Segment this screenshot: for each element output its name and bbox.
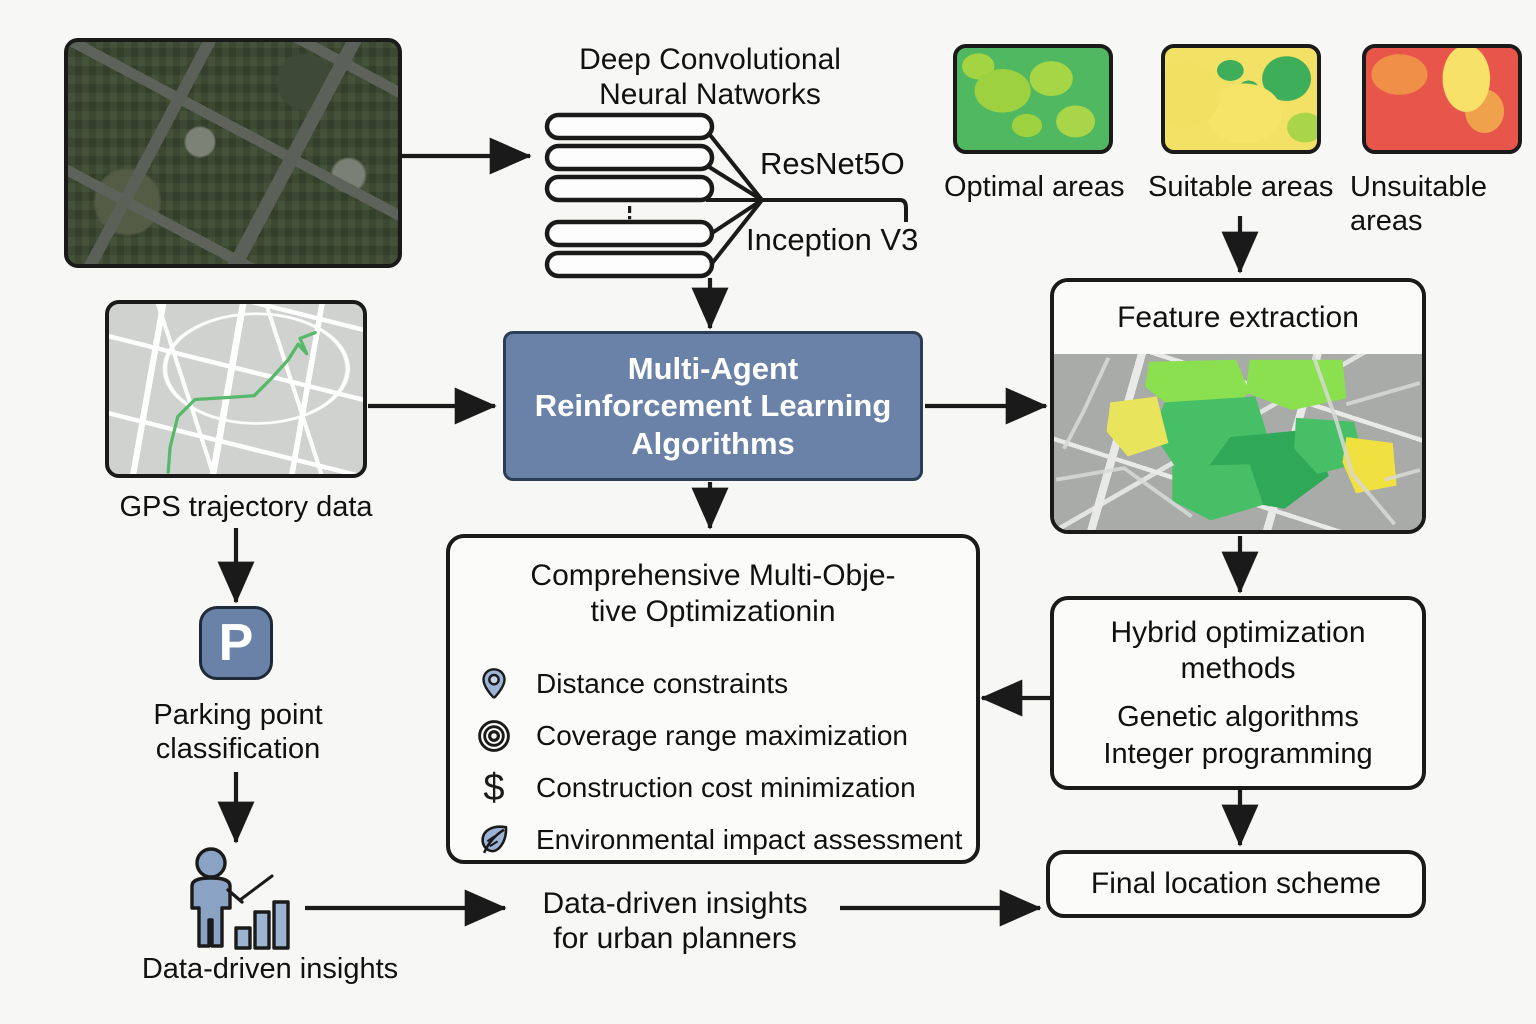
diagram-canvas: Deep Convolutional Neural Natworks ResNe… xyxy=(0,0,1536,1024)
leaf-icon xyxy=(472,818,516,862)
hybrid-optimization-box[interactable]: Hybrid optimization methods Genetic algo… xyxy=(1050,596,1426,790)
map-thumbnail-optimal xyxy=(953,44,1113,154)
gps-map-card xyxy=(105,300,367,478)
satellite-image-card xyxy=(64,38,402,268)
objective-label-environment: Environmental impact assessment xyxy=(536,824,962,856)
gps-caption: GPS trajectory data xyxy=(96,490,396,524)
gps-trajectory-path xyxy=(109,304,363,474)
objective-row-distance: Distance constraints xyxy=(472,658,976,710)
objective-label-distance: Distance constraints xyxy=(536,668,788,700)
parking-icon-letter: P xyxy=(219,617,254,669)
legend-label-optimal: Optimal areas xyxy=(944,170,1144,204)
parking-icon: P xyxy=(199,606,273,680)
optimization-panel[interactable]: Comprehensive Multi-Obje- tive Optimizat… xyxy=(446,534,980,864)
cnn-layer-stack xyxy=(544,112,724,280)
map-thumbnail-unsuitable xyxy=(1362,44,1522,154)
cnn-model-inception: Inception V3 xyxy=(746,222,986,259)
insights-flow-label: Data-driven insights for urban planners xyxy=(510,886,840,957)
dollar-icon: $ xyxy=(472,766,516,810)
final-location-scheme-box[interactable]: Final location scheme xyxy=(1046,850,1426,918)
marl-box[interactable]: Multi-Agent Reinforcement Learning Algor… xyxy=(503,331,923,481)
legend-label-unsuitable: Unsuitable areas xyxy=(1350,170,1520,238)
cnn-title: Deep Convolutional Neural Natworks xyxy=(540,42,880,113)
objective-label-coverage: Coverage range maximization xyxy=(536,720,908,752)
map-pin-icon xyxy=(472,662,516,706)
parking-caption: Parking point classification xyxy=(116,698,360,766)
objective-row-cost: $ Construction cost minimization xyxy=(472,762,976,814)
feature-extraction-map xyxy=(1054,354,1422,530)
objective-row-coverage: Coverage range maximization xyxy=(472,710,976,762)
objective-row-environment: Environmental impact assessment xyxy=(472,814,976,866)
final-location-label: Final location scheme xyxy=(1091,867,1381,901)
marl-label: Multi-Agent Reinforcement Learning Algor… xyxy=(535,350,892,462)
target-icon xyxy=(472,714,516,758)
map-thumbnail-suitable xyxy=(1161,44,1321,154)
feature-extraction-title: Feature extraction xyxy=(1054,282,1422,354)
hybrid-method-integer: Integer programming xyxy=(1103,738,1372,771)
insights-caption: Data-driven insights xyxy=(110,952,430,986)
hybrid-method-genetic: Genetic algorithms xyxy=(1117,701,1359,734)
hybrid-title: Hybrid optimization methods xyxy=(1110,615,1365,687)
objective-label-cost: Construction cost minimization xyxy=(536,772,916,804)
presenter-icon xyxy=(176,846,302,952)
legend-label-suitable: Suitable areas xyxy=(1148,170,1348,204)
feature-extraction-box[interactable]: Feature extraction xyxy=(1050,278,1426,534)
optimization-title: Comprehensive Multi-Obje- tive Optimizat… xyxy=(450,558,976,630)
